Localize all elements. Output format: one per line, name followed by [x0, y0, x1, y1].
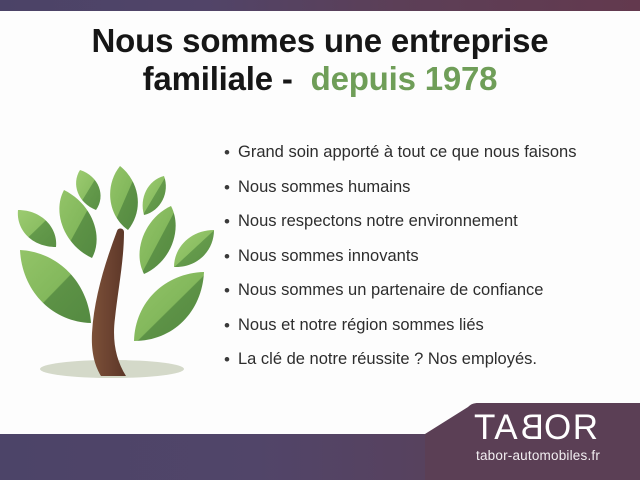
bullet-marker-icon: •: [224, 349, 238, 370]
page-title-line2: familiale - depuis 1978: [0, 60, 640, 98]
brand-name-letter-b: B: [519, 410, 544, 446]
slide-root: Nous sommes une entreprise familiale - d…: [0, 0, 640, 480]
bullet-list: • Grand soin apporté à tout ce que nous …: [224, 142, 624, 384]
bullet-marker-icon: •: [224, 142, 238, 163]
brand-name: TABOR: [474, 410, 640, 446]
list-item: • Nous et notre région sommes liés: [224, 315, 624, 336]
bullet-marker-icon: •: [224, 315, 238, 336]
list-item-label: Grand soin apporté à tout ce que nous fa…: [238, 142, 624, 163]
leaf-top-center: [110, 166, 138, 230]
list-item-label: Nous sommes innovants: [238, 246, 624, 267]
top-accent-bar: [0, 0, 640, 11]
list-item: • Nous sommes un partenaire de confiance: [224, 280, 624, 301]
bullet-marker-icon: •: [224, 211, 238, 232]
brand-website: tabor-automobiles.fr: [476, 447, 640, 464]
list-item-label: Nous respectons notre environnement: [238, 211, 624, 232]
leaf-upper-right: [139, 206, 175, 274]
list-item-label: Nous et notre région sommes liés: [238, 315, 624, 336]
brand-name-part1: TA: [474, 408, 519, 447]
leaf-top-right-small: [143, 176, 166, 215]
tree-illustration-svg: [8, 148, 223, 388]
tree-illustration: [8, 148, 223, 388]
page-title-line1: Nous sommes une entreprise: [0, 22, 640, 60]
page-title-highlight: depuis 1978: [311, 60, 498, 97]
tree-trunk: [92, 228, 126, 376]
bullet-marker-icon: •: [224, 280, 238, 301]
page-title-dash: -: [282, 60, 293, 97]
list-item: • Grand soin apporté à tout ce que nous …: [224, 142, 624, 163]
list-item: • Nous respectons notre environnement: [224, 211, 624, 232]
leaf-lower-right: [134, 272, 204, 341]
list-item: • La clé de notre réussite ? Nos employé…: [224, 349, 624, 370]
brand-logo: TABOR tabor-automobiles.fr: [474, 410, 640, 464]
bullet-marker-icon: •: [224, 246, 238, 267]
leaf-lower-left: [20, 250, 91, 323]
page-title: Nous sommes une entreprise familiale - d…: [0, 22, 640, 99]
list-item-label: La clé de notre réussite ? Nos employés.: [238, 349, 624, 370]
list-item: • Nous sommes humains: [224, 177, 624, 198]
leaf-left-small: [18, 210, 56, 247]
list-item: • Nous sommes innovants: [224, 246, 624, 267]
list-item-label: Nous sommes humains: [238, 177, 624, 198]
list-item-label: Nous sommes un partenaire de confiance: [238, 280, 624, 301]
brand-name-part2: OR: [544, 408, 600, 447]
page-title-line2-prefix: familiale: [143, 60, 273, 97]
leaf-right-small: [174, 230, 214, 267]
bullet-marker-icon: •: [224, 177, 238, 198]
